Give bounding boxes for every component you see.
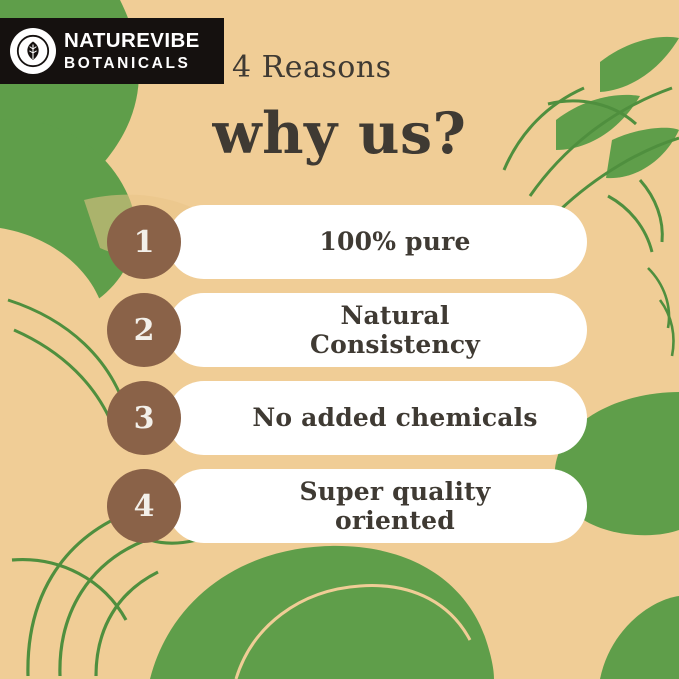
promo-graphic: NATUREVIBE BOTANICALS 4 Reasons why us? … [0,0,679,679]
reason-text: No added chemicals [252,403,537,433]
page-title: why us? [0,100,679,167]
list-item: Super qualityoriented 4 [107,469,587,543]
reason-pill: Super qualityoriented [167,469,587,543]
list-item: NaturalConsistency 2 [107,293,587,367]
reason-number-badge: 3 [107,381,181,455]
list-item: No added chemicals 3 [107,381,587,455]
reason-number: 2 [134,313,155,348]
reason-number: 1 [134,225,155,260]
reason-number: 4 [134,489,155,524]
reason-number-badge: 1 [107,205,181,279]
heading-eyebrow: 4 Reasons [232,50,392,85]
reason-pill: 100% pure [167,205,587,279]
reason-pill: No added chemicals [167,381,587,455]
reason-number-badge: 4 [107,469,181,543]
reasons-list: 100% pure 1 NaturalConsistency 2 No adde… [107,205,587,557]
reason-text: NaturalConsistency [310,301,480,360]
brand-subtitle: BOTANICALS [64,56,200,72]
list-item: 100% pure 1 [107,205,587,279]
reason-text: 100% pure [319,227,470,257]
brand-text: NATUREVIBE BOTANICALS [64,31,200,71]
reason-number-badge: 2 [107,293,181,367]
reason-text: Super qualityoriented [299,477,490,536]
reason-pill: NaturalConsistency [167,293,587,367]
brand-name: NATUREVIBE [64,31,200,52]
brand-logo-block: NATUREVIBE BOTANICALS [0,18,224,84]
reason-number: 3 [134,401,155,436]
leaf-in-circle-icon [10,28,56,74]
